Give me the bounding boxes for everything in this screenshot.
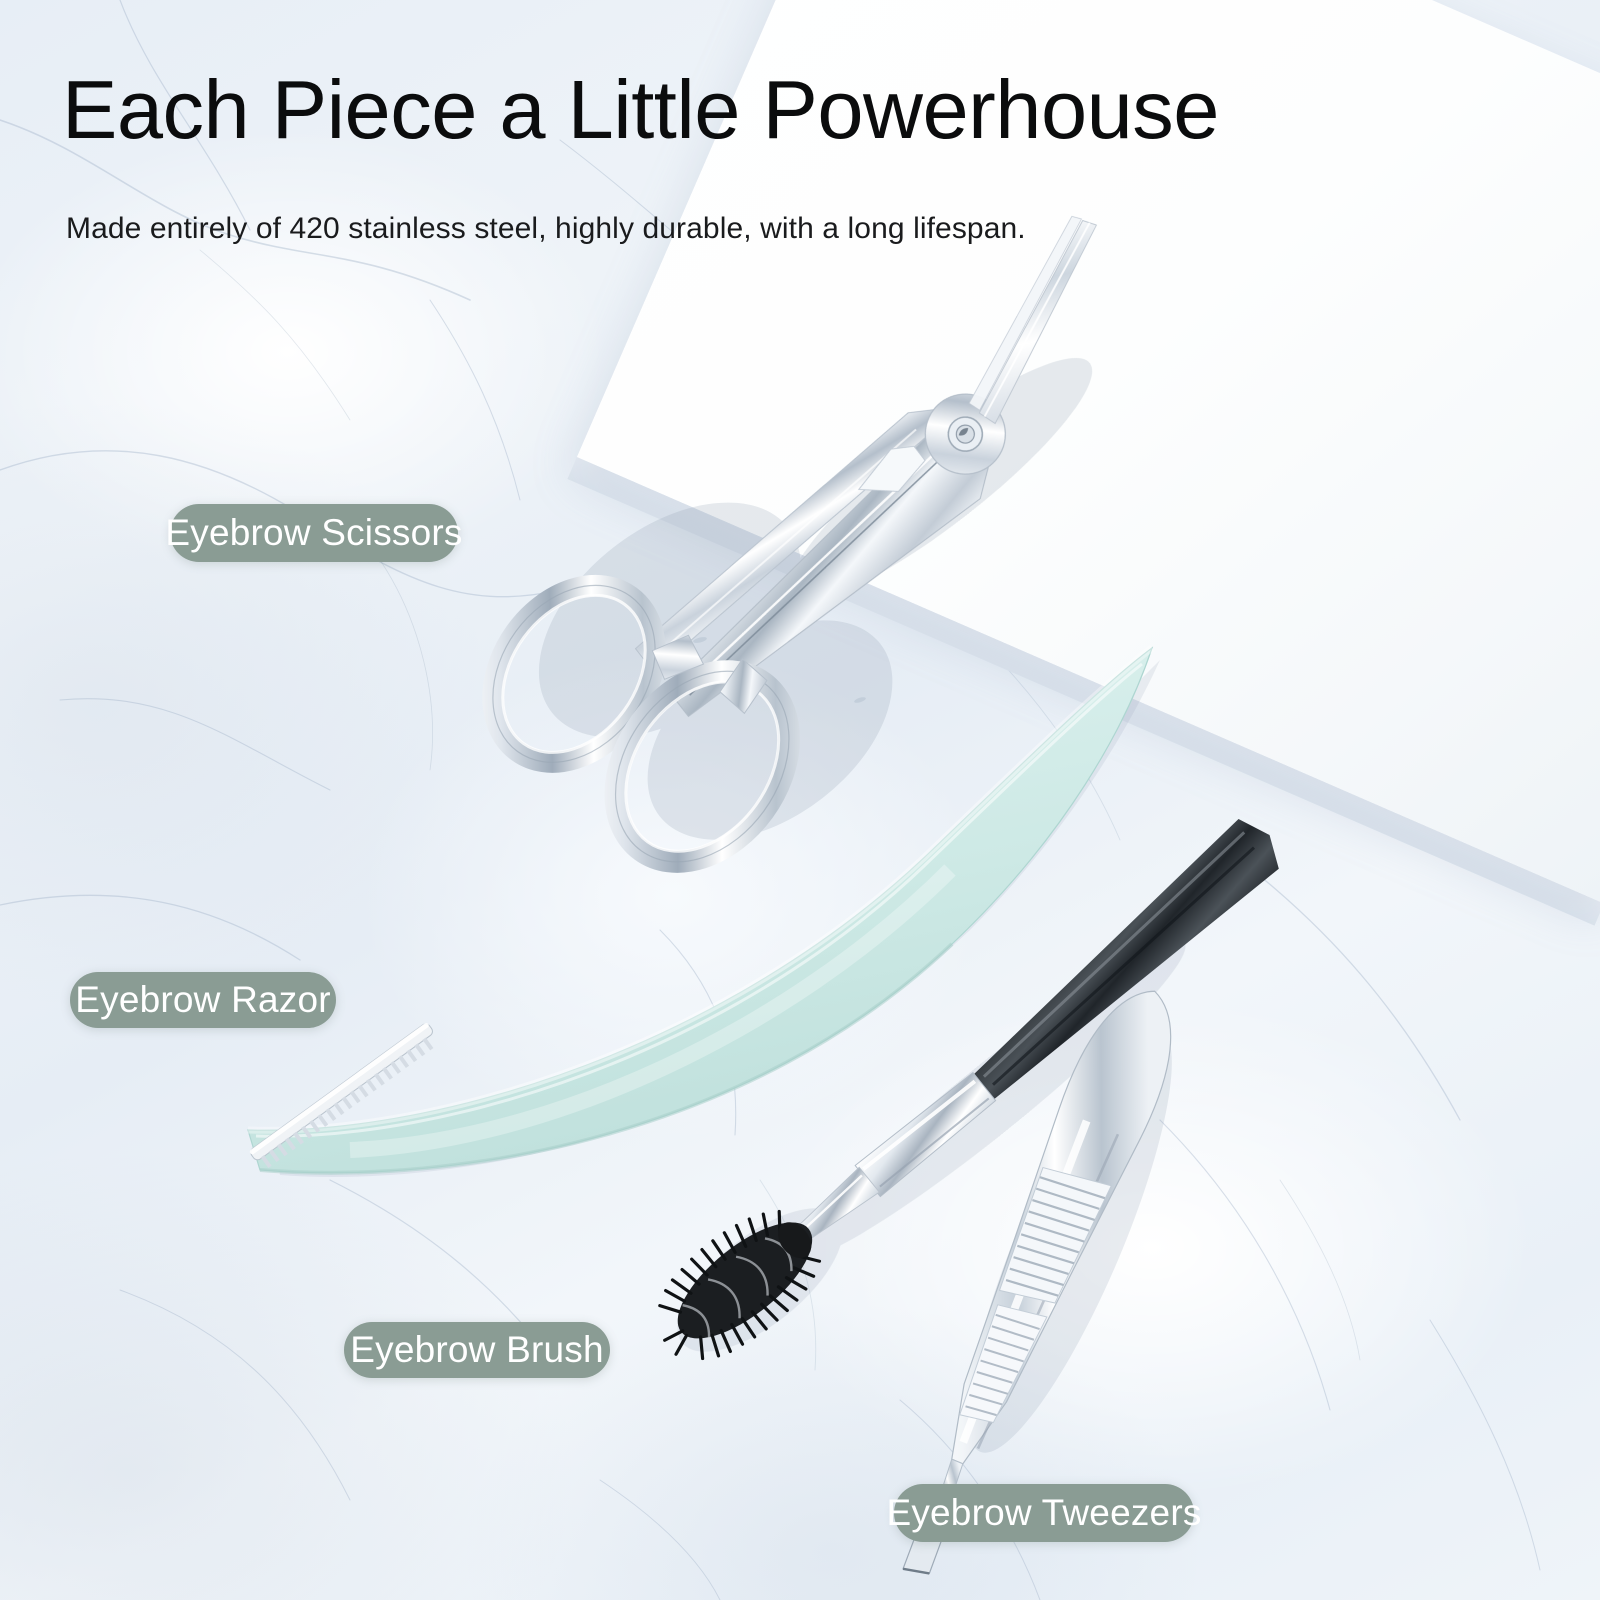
label-eyebrow-scissors: Eyebrow Scissors [170, 504, 458, 562]
label-eyebrow-tweezers: Eyebrow Tweezers [894, 1484, 1194, 1542]
label-eyebrow-razor-text: Eyebrow Razor [75, 979, 331, 1021]
label-eyebrow-brush-text: Eyebrow Brush [350, 1329, 604, 1371]
label-eyebrow-razor: Eyebrow Razor [70, 972, 336, 1028]
label-eyebrow-scissors-text: Eyebrow Scissors [165, 512, 462, 554]
label-eyebrow-tweezers-text: Eyebrow Tweezers [886, 1492, 1201, 1534]
page-title: Each Piece a Little Powerhouse [62, 68, 1219, 153]
product-infographic: Each Piece a Little Powerhouse Made enti… [0, 0, 1600, 1600]
label-eyebrow-brush: Eyebrow Brush [344, 1322, 610, 1378]
page-subtitle: Made entirely of 420 stainless steel, hi… [66, 212, 1026, 246]
eyebrow-tweezers-product [740, 930, 1380, 1550]
